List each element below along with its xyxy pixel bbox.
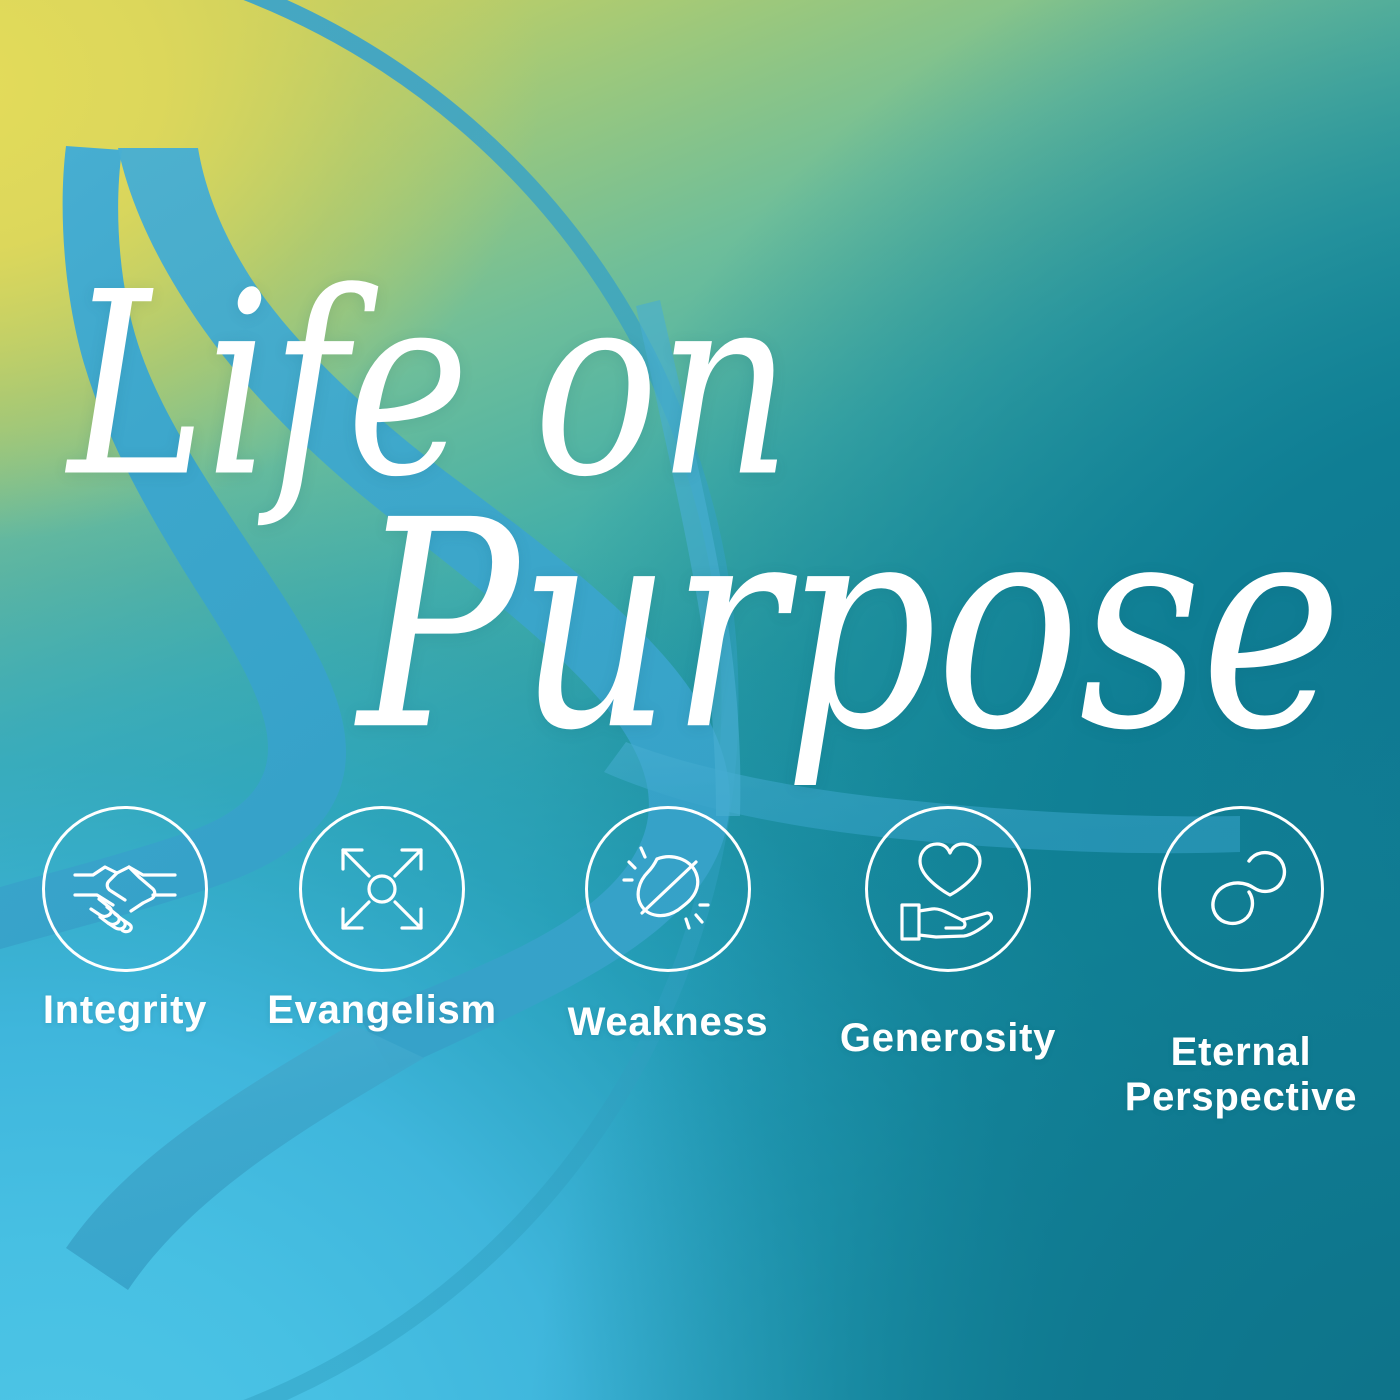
handshake-icon [69, 833, 181, 945]
core-values-row: Integrity Evangelism [0, 806, 1400, 1226]
value-item-evangelism[interactable]: Evangelism [255, 806, 509, 1033]
value-label-weakness: Weakness [539, 1000, 797, 1045]
cracked-circle-icon [614, 835, 722, 943]
value-icon-circle-generosity [865, 806, 1031, 972]
value-item-weakness[interactable]: Weakness [539, 806, 797, 1045]
value-label-generosity: Generosity [802, 1016, 1094, 1061]
value-icon-circle-eternal-perspective [1158, 806, 1324, 972]
value-item-generosity[interactable]: Generosity [802, 806, 1094, 1061]
value-label-evangelism: Evangelism [255, 988, 509, 1033]
value-item-integrity[interactable]: Integrity [14, 806, 236, 1033]
value-icon-circle-integrity [42, 806, 208, 972]
infinity-icon [1189, 843, 1293, 935]
podcast-cover-art: Life on Purpose Integrity [0, 0, 1400, 1400]
expand-arrows-icon [329, 836, 435, 942]
value-label-integrity: Integrity [14, 988, 236, 1033]
value-icon-circle-weakness [585, 806, 751, 972]
hand-heart-icon [892, 835, 1004, 943]
value-icon-circle-evangelism [299, 806, 465, 972]
value-label-eternal-perspective: Eternal Perspective [1108, 1030, 1374, 1120]
value-item-eternal-perspective[interactable]: Eternal Perspective [1108, 806, 1374, 1120]
